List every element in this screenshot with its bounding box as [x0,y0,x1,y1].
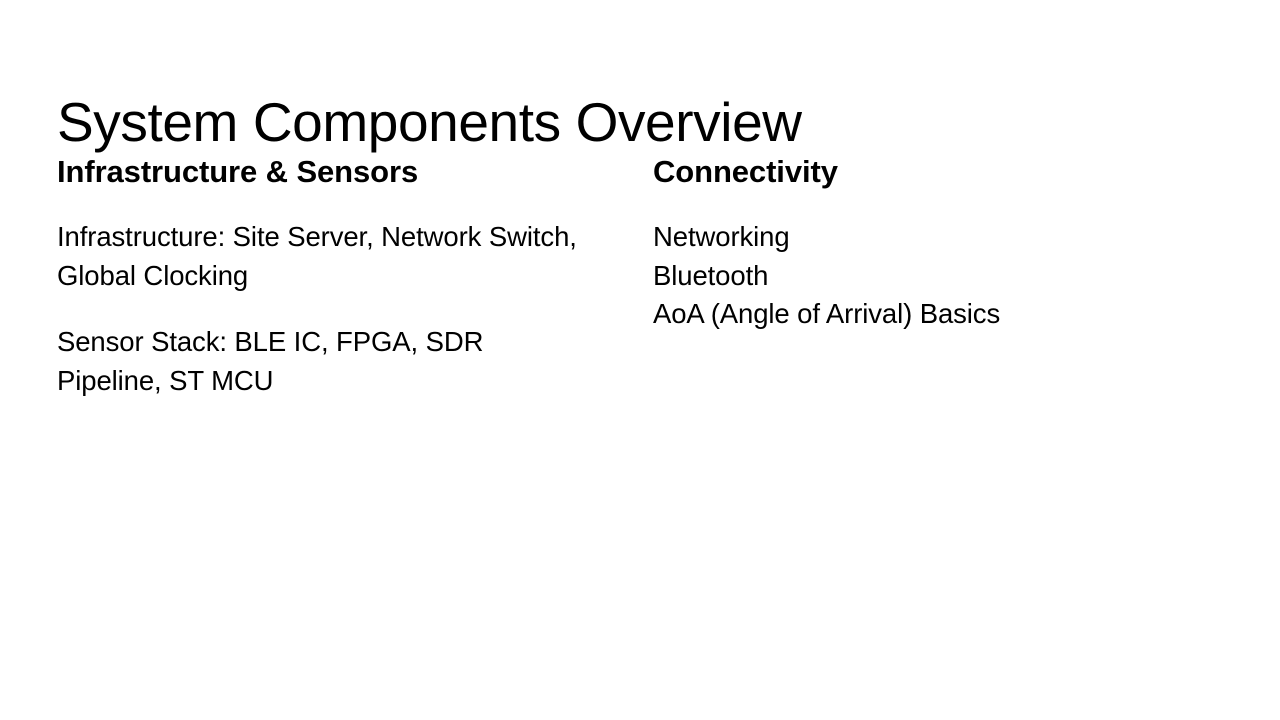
paragraph-infrastructure: Infrastructure: Site Server, Network Swi… [57,218,577,295]
connectivity-item-networking: Networking [653,218,1193,257]
connectivity-item-bluetooth: Bluetooth [653,257,1193,296]
page-title: System Components Overview [57,89,1217,155]
column-connectivity: Connectivity Networking Bluetooth AoA (A… [653,152,1213,334]
connectivity-list: Networking Bluetooth AoA (Angle of Arriv… [653,218,1193,334]
column-infrastructure-sensors: Infrastructure & Sensors Infrastructure:… [57,152,653,400]
connectivity-item-aoa-basics: AoA (Angle of Arrival) Basics [653,295,1193,334]
column-heading-infrastructure-sensors: Infrastructure & Sensors [57,152,653,192]
column-heading-connectivity: Connectivity [653,152,1213,192]
presentation-slide: System Components Overview Infrastructur… [0,0,1280,720]
paragraph-sensor-stack: Sensor Stack: BLE IC, FPGA, SDR Pipeline… [57,323,577,400]
content-columns: Infrastructure & Sensors Infrastructure:… [57,152,1227,400]
